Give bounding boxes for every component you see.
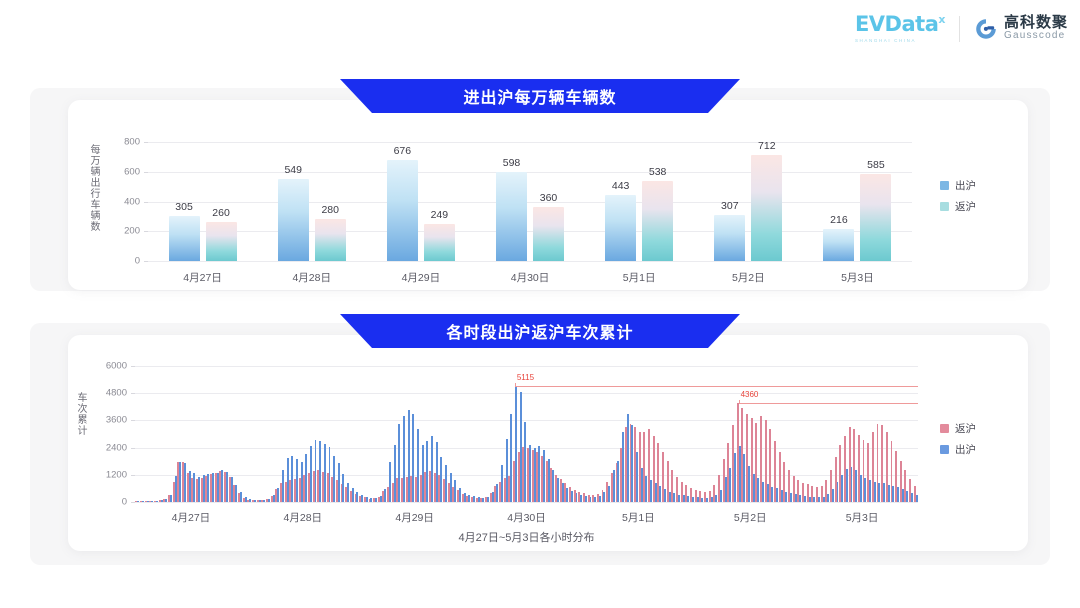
gausscode-cn: 高科数聚 (1004, 15, 1068, 31)
evdata-wordmark: EVDatax (855, 14, 945, 35)
logo-divider (959, 16, 960, 42)
evdata-ev-text: EVData (855, 12, 938, 36)
chart1-card (68, 100, 1028, 290)
chart2-banner: 各时段出沪返沪车次累计 (340, 314, 740, 348)
gausscode-en: Gausscode (1004, 31, 1068, 42)
evdata-logo: EVDatax SHANGHAI CHINA (855, 14, 945, 43)
logo-group: EVDatax SHANGHAI CHINA 高科数聚 Gausscode (855, 14, 1068, 43)
chart2-card (68, 335, 1028, 551)
gausscode-logo: 高科数聚 Gausscode (974, 15, 1068, 41)
evdata-tagline: SHANGHAI CHINA (855, 38, 916, 43)
evdata-superscript: x (938, 13, 945, 26)
gausscode-text: 高科数聚 Gausscode (1004, 15, 1068, 41)
c-circle-icon (974, 17, 998, 41)
page-header: EVDatax SHANGHAI CHINA 高科数聚 Gausscode (0, 0, 1080, 66)
chart1-banner: 进出沪每万辆车辆数 (340, 79, 740, 113)
